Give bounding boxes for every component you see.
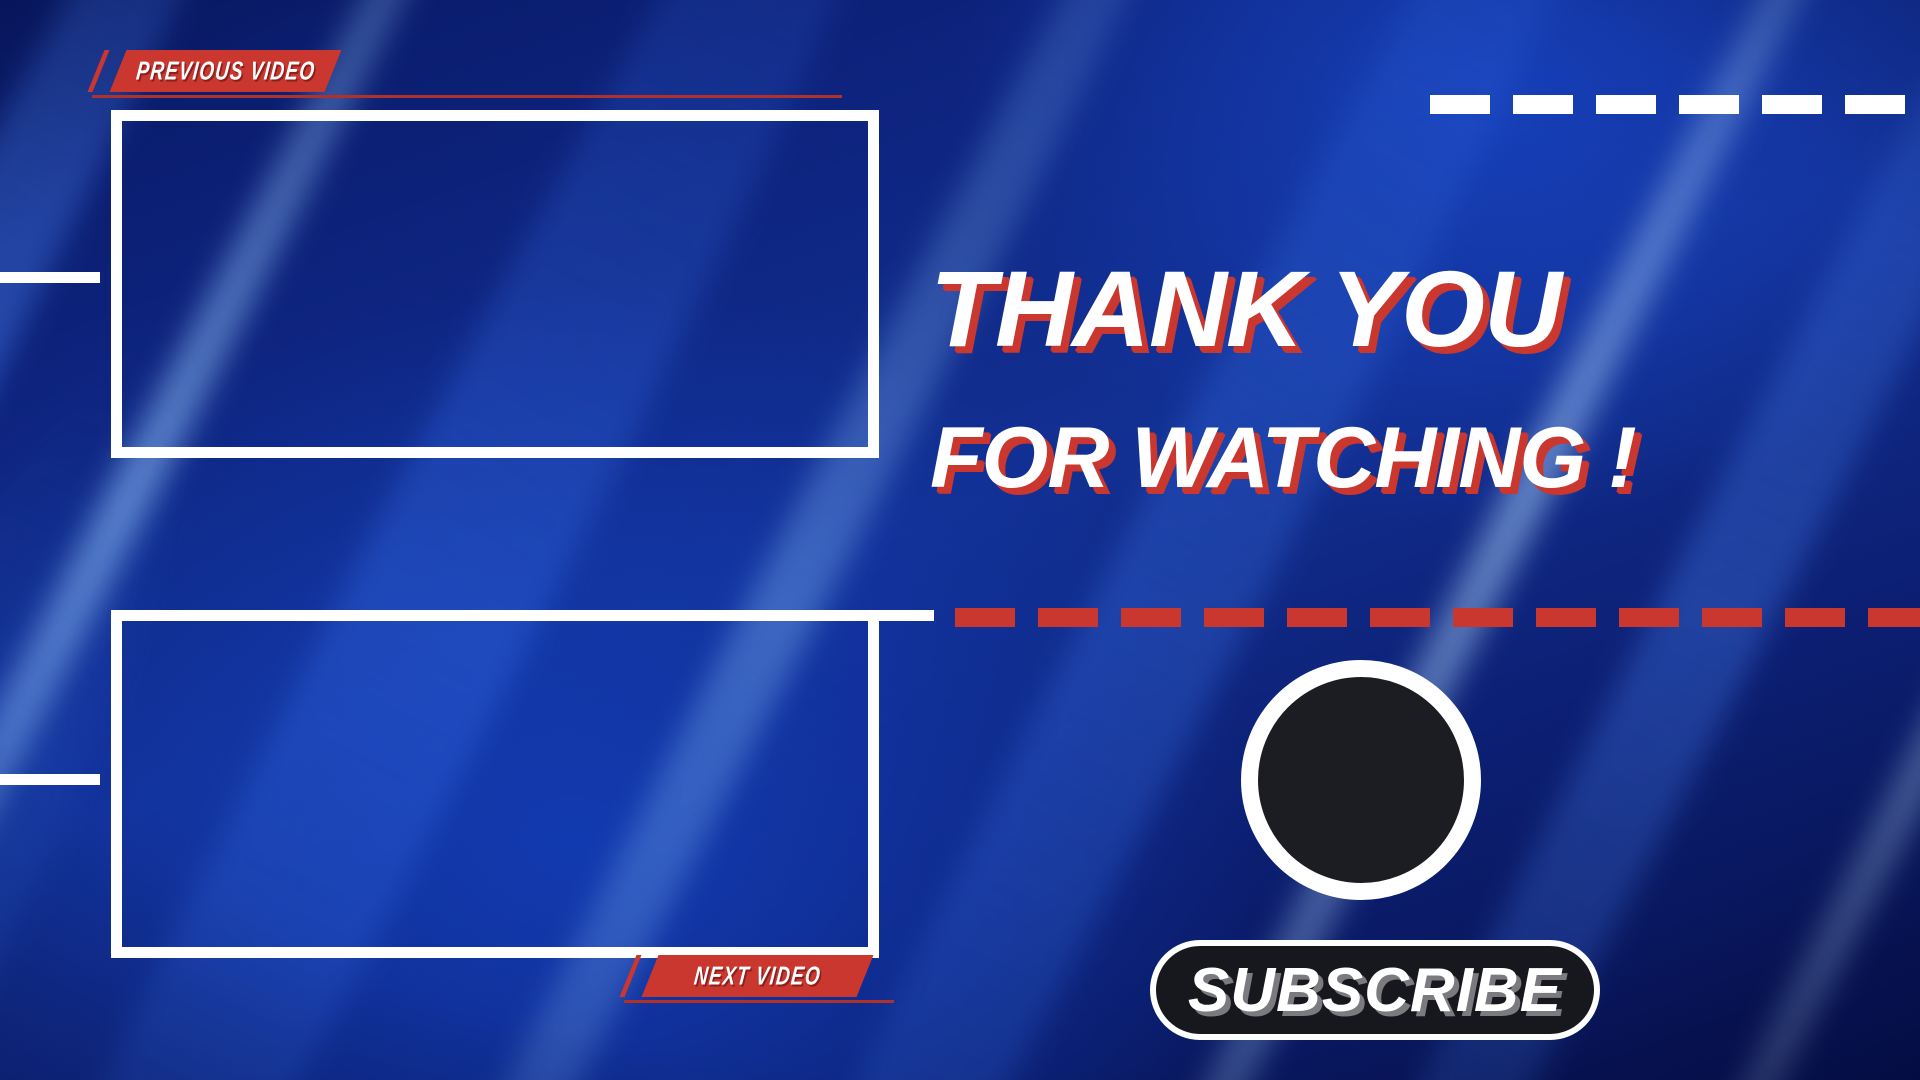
dash-segment [1702,608,1762,627]
dash-segment [1121,608,1181,627]
dash-segment [1679,95,1739,114]
banner-shape: NEXT VIDEO [642,955,874,997]
red-dashed-rule [955,608,1920,627]
previous-video-banner[interactable]: PREVIOUS VIDEO [118,50,333,92]
subscribe-button[interactable]: SUBSCRIBE [1150,940,1600,1040]
dash-segment [1868,608,1920,627]
end-screen-canvas: PREVIOUS VIDEO NEXT VIDEO [0,0,1920,1080]
dash-segment [1845,95,1905,114]
previous-video-label: PREVIOUS VIDEO [134,56,316,87]
dash-segment [1785,608,1845,627]
subscribe-button-label: SUBSCRIBE [1188,955,1562,1026]
next-video-banner[interactable]: NEXT VIDEO [650,955,865,997]
dash-segment [1370,608,1430,627]
dash-segment [1596,95,1656,114]
dash-segment [1038,608,1098,627]
next-video-connector-line [0,774,100,785]
dash-segment [955,608,1015,627]
banner-underline [92,95,842,98]
dash-segment [1513,95,1573,114]
dash-segment [1536,608,1596,627]
banner-shape: PREVIOUS VIDEO [110,50,342,92]
white-dashed-rule [1430,95,1920,114]
dash-segment [1762,95,1822,114]
banner-underline [624,1000,894,1003]
headline-line-1: THANK YOU [930,255,1780,363]
previous-video-connector-line [0,272,100,283]
next-video-thumbnail-slot[interactable] [111,610,879,958]
dash-segment [1619,608,1679,627]
dash-segment [1453,608,1513,627]
channel-avatar-slot[interactable] [1241,660,1481,900]
next-video-label: NEXT VIDEO [693,961,823,992]
headline-line-2: FOR WATCHING ! [930,415,1780,501]
dash-segment [1287,608,1347,627]
headline-block: THANK YOU FOR WATCHING ! [930,255,1780,501]
previous-video-thumbnail-slot[interactable] [111,110,879,458]
dash-segment [1430,95,1490,114]
next-video-top-extension-line [879,610,934,621]
dash-segment [1204,608,1264,627]
